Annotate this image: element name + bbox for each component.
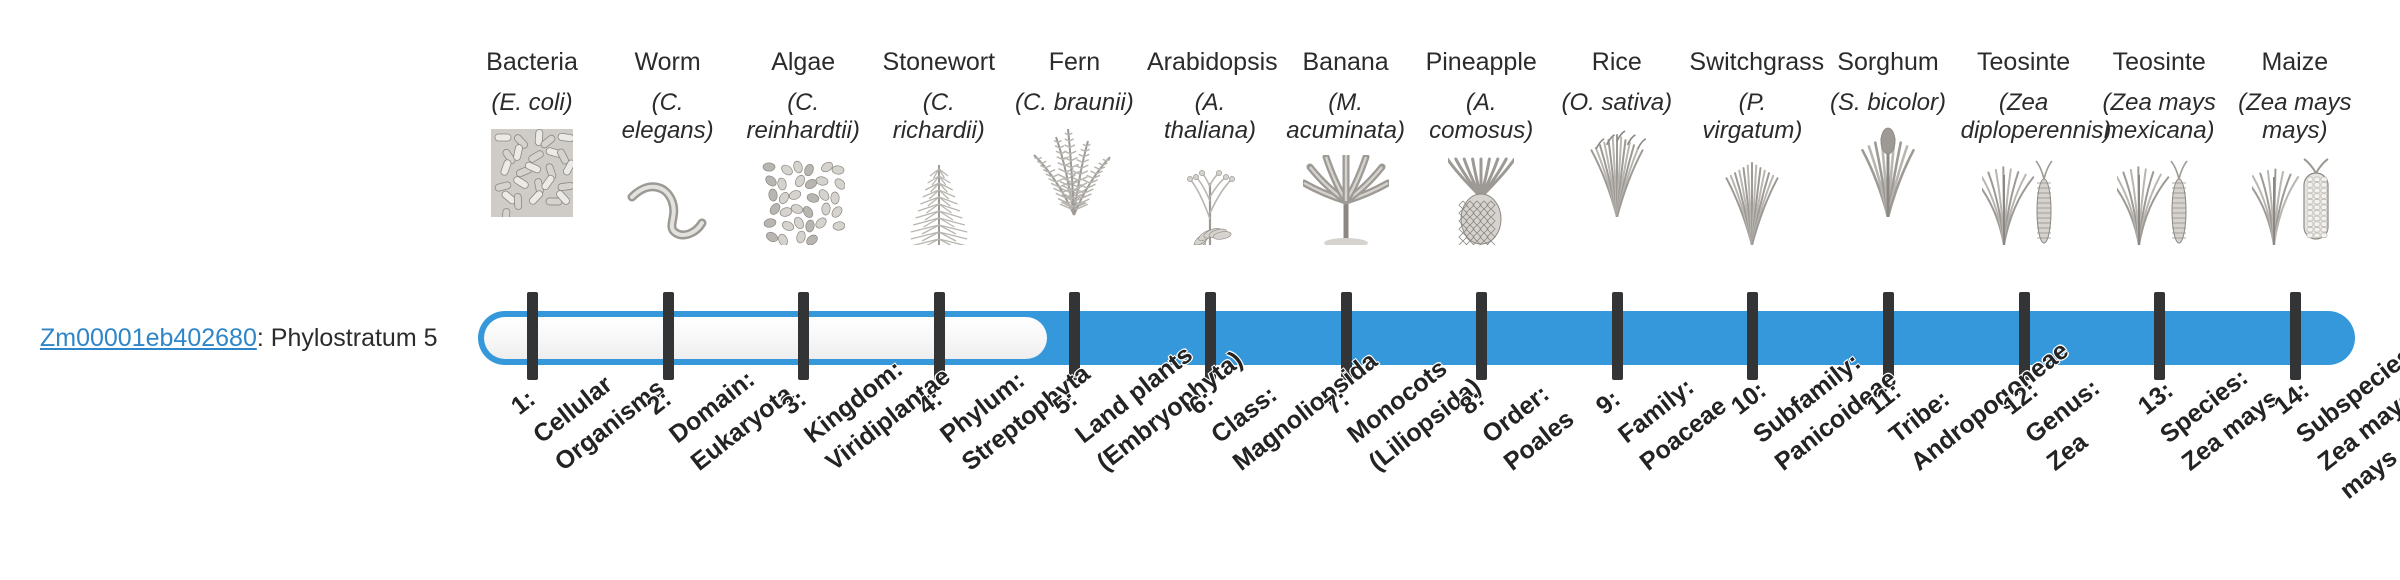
maize-icon [2232,153,2358,245]
species-column-teosinte-13: Teosinte(Zea mays mexicana) [2096,48,2222,245]
rank-label-8: 8: Order: Poales [1453,346,1582,480]
phylostratum-tick-13[interactable] [2154,292,2165,380]
species-common-name: Pineapple [1418,48,1544,78]
banana-icon [1283,153,1409,245]
phylostratum-tick-2[interactable] [663,292,674,380]
gene-phylostratum-label: Zm00001eb402680: Phylostratum 5 [40,323,438,353]
algae-icon [740,153,866,245]
species-common-name: Switchgrass [1689,48,1815,78]
species-column-stonewort-4: Stonewort(C. richardii) [876,48,1002,245]
species-common-name: Bacteria [469,48,595,78]
rank-text: Cellular Organisms [528,370,670,476]
species-common-name: Algae [740,48,866,78]
worm-icon [605,153,731,245]
species-column-switchgrass-10: Switchgrass(P. virgatum) [1689,48,1815,245]
species-column-fern-5: Fern(C. braunii) [1011,48,1137,217]
species-column-maize-14: Maize(Zea mays mays) [2232,48,2358,245]
species-common-name: Fern [1011,48,1137,78]
species-common-name: Maize [2232,48,2358,78]
species-common-name: Worm [605,48,731,78]
sorghum-icon [1825,125,1951,217]
species-column-rice-9: Rice(O. sativa) [1554,48,1680,217]
species-column-banana-7: Banana(M. acuminata) [1283,48,1409,245]
species-latin-name: (S. bicolor) [1825,89,1951,117]
bacteria-icon [469,125,595,217]
species-common-name: Banana [1283,48,1409,78]
species-column-worm-2: Worm(C. elegans) [605,48,731,245]
species-latin-name: (P. virgatum) [1689,89,1815,146]
phylostratum-tick-10[interactable] [1747,292,1758,380]
teosinte-mexicana-icon [2096,153,2222,245]
fern-icon [1011,125,1137,217]
rice-icon [1554,125,1680,217]
phylostratum-tick-8[interactable] [1476,292,1487,380]
species-common-name: Stonewort [876,48,1002,78]
species-latin-name: (C. braunii) [1011,89,1137,117]
rank-text: Family: Poaceae [1612,372,1731,476]
species-latin-name: (Zea mays mays) [2232,89,2358,146]
species-latin-name: (M. acuminata) [1283,89,1409,146]
pineapple-icon [1418,153,1544,245]
species-latin-name: (C. elegans) [605,89,731,146]
species-latin-name: (C. reinhardtii) [740,89,866,146]
species-column-sorghum-11: Sorghum(S. bicolor) [1825,48,1951,217]
arabidopsis-icon [1147,153,1273,245]
species-latin-name: (E. coli) [469,89,595,117]
species-header-row: Bacteria(E. coli)Worm(C. elegans) Algae(… [0,0,2400,300]
species-latin-name: (Zea diploperennis) [1961,89,2087,146]
species-latin-name: (C. richardii) [876,89,1002,146]
phylostratum-tick-3[interactable] [798,292,809,380]
gene-label-separator: : [257,324,271,352]
rank-number: 1: [506,385,541,421]
species-common-name: Sorghum [1825,48,1951,78]
species-common-name: Arabidopsis [1147,48,1273,78]
rank-text: Monocots (Liliopsida) [1341,354,1485,477]
species-latin-name: (A. comosus) [1418,89,1544,146]
phylostratum-tick-9[interactable] [1612,292,1623,380]
rank-text: Order: Poales [1477,379,1580,476]
species-latin-name: (Zea mays mexicana) [2096,89,2222,146]
gene-id-link[interactable]: Zm00001eb402680 [40,324,257,352]
rank-number: 9: [1591,385,1626,421]
stonewort-icon [876,153,1002,245]
species-latin-name: (O. sativa) [1554,89,1680,117]
phylostratum-figure: Zm00001eb402680: Phylostratum 5 Bacteria… [0,0,2400,580]
species-common-name: Teosinte [1961,48,2087,78]
species-common-name: Teosinte [2096,48,2222,78]
rank-text: Species: Zea mays [2155,363,2284,476]
species-column-bacteria-1: Bacteria(E. coli) [469,48,595,217]
phylostratum-tick-1[interactable] [527,292,538,380]
species-column-teosinte-12: Teosinte(Zea diploperennis) [1961,48,2087,245]
species-common-name: Rice [1554,48,1680,78]
phylostratum-tick-14[interactable] [2290,292,2301,380]
rank-text: Domain: Eukaryota [663,365,797,477]
species-column-algae-3: Algae(C. reinhardtii) [740,48,866,245]
species-latin-name: (A. thaliana) [1147,89,1273,146]
switchgrass-icon [1689,153,1815,245]
species-column-pineapple-8: Pineapple(A. comosus) [1418,48,1544,245]
phylostratum-text: Phylostratum 5 [271,324,438,352]
species-column-arabidopsis-6: Arabidopsis(A. thaliana) [1147,48,1273,245]
teosinte-diplo-icon [1961,153,2087,245]
